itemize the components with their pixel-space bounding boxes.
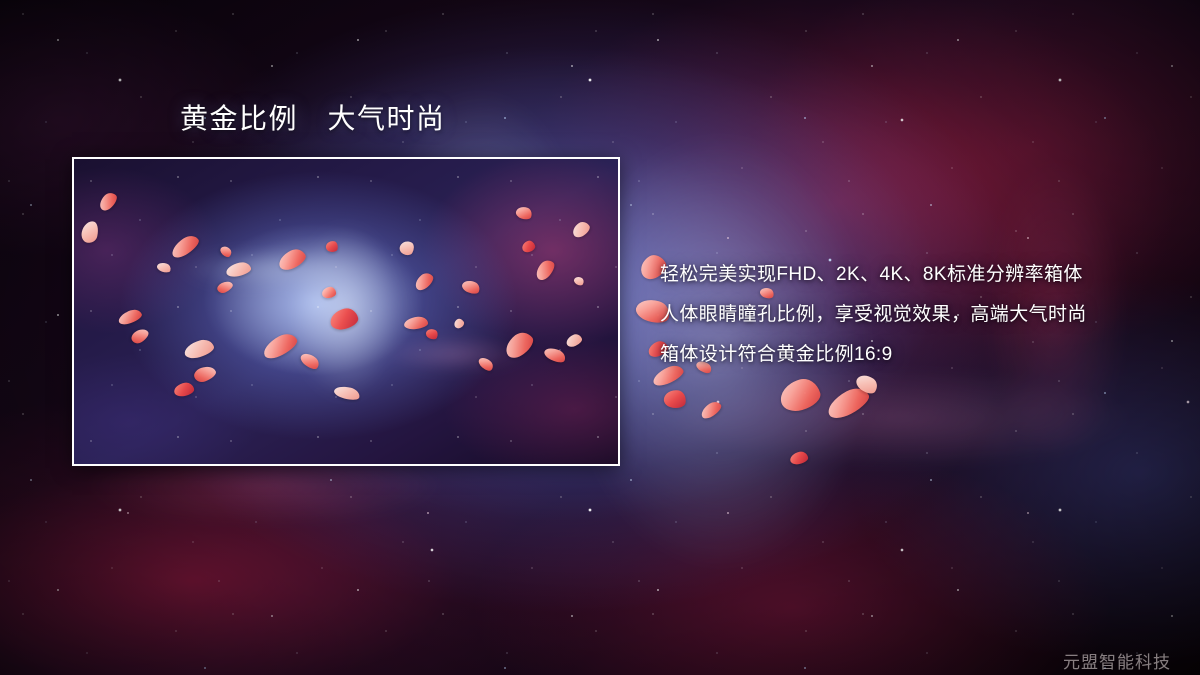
body-line-1: 轻松完美实现FHD、2K、4K、8K标准分辨率箱体 bbox=[660, 255, 1180, 295]
body-line-2: 人体眼睛瞳孔比例，享受视觉效果，高端大气时尚 bbox=[660, 295, 1180, 335]
petal bbox=[789, 450, 809, 465]
watermark: 元盟智能科技 bbox=[1063, 648, 1171, 673]
photo-frame bbox=[72, 157, 620, 466]
body-copy: 轻松完美实现FHD、2K、4K、8K标准分辨率箱体 人体眼睛瞳孔比例，享受视觉效… bbox=[660, 255, 1180, 375]
photo-image bbox=[74, 159, 618, 464]
petal bbox=[699, 399, 724, 421]
presentation-slide: 黄金比例 大气时尚 bbox=[0, 0, 1200, 675]
petal bbox=[777, 375, 824, 415]
slide-title: 黄金比例 大气时尚 bbox=[180, 101, 446, 136]
petal bbox=[663, 389, 687, 410]
body-line-3: 箱体设计符合黄金比例16:9 bbox=[660, 335, 1180, 375]
